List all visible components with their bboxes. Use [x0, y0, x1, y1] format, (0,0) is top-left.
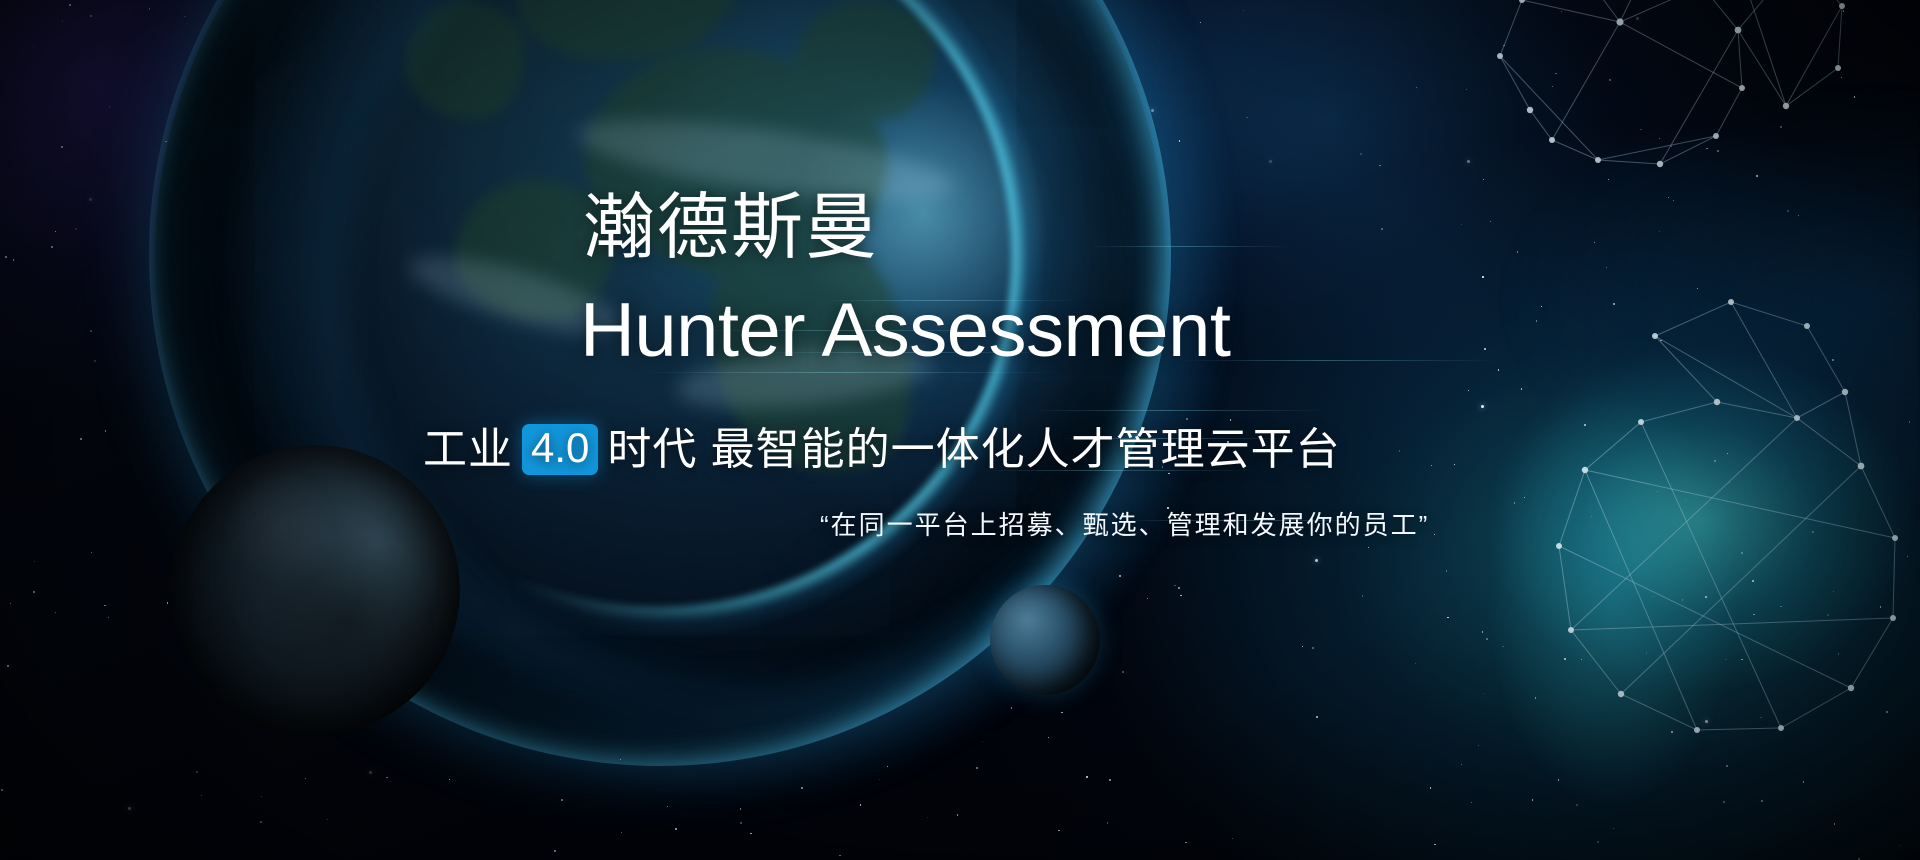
brand-name-english: Hunter Assessment [580, 293, 1230, 369]
tagline: 工业 4.0 时代 最智能的一体化人才管理云平台 [423, 424, 1341, 475]
tagline-prefix: 工业 [423, 428, 513, 472]
industry-version-badge: 4.0 [522, 424, 598, 475]
hero-banner: 瀚德斯曼 Hunter Assessment 工业 4.0 时代 最智能的一体化… [0, 0, 1920, 860]
tagline-suffix: 时代 最智能的一体化人才管理云平台 [607, 428, 1340, 472]
brand-name-chinese: 瀚德斯曼 [583, 192, 879, 264]
hero-quote: “在同一平台上招募、甄选、管理和发展你的员工” [820, 512, 1429, 538]
